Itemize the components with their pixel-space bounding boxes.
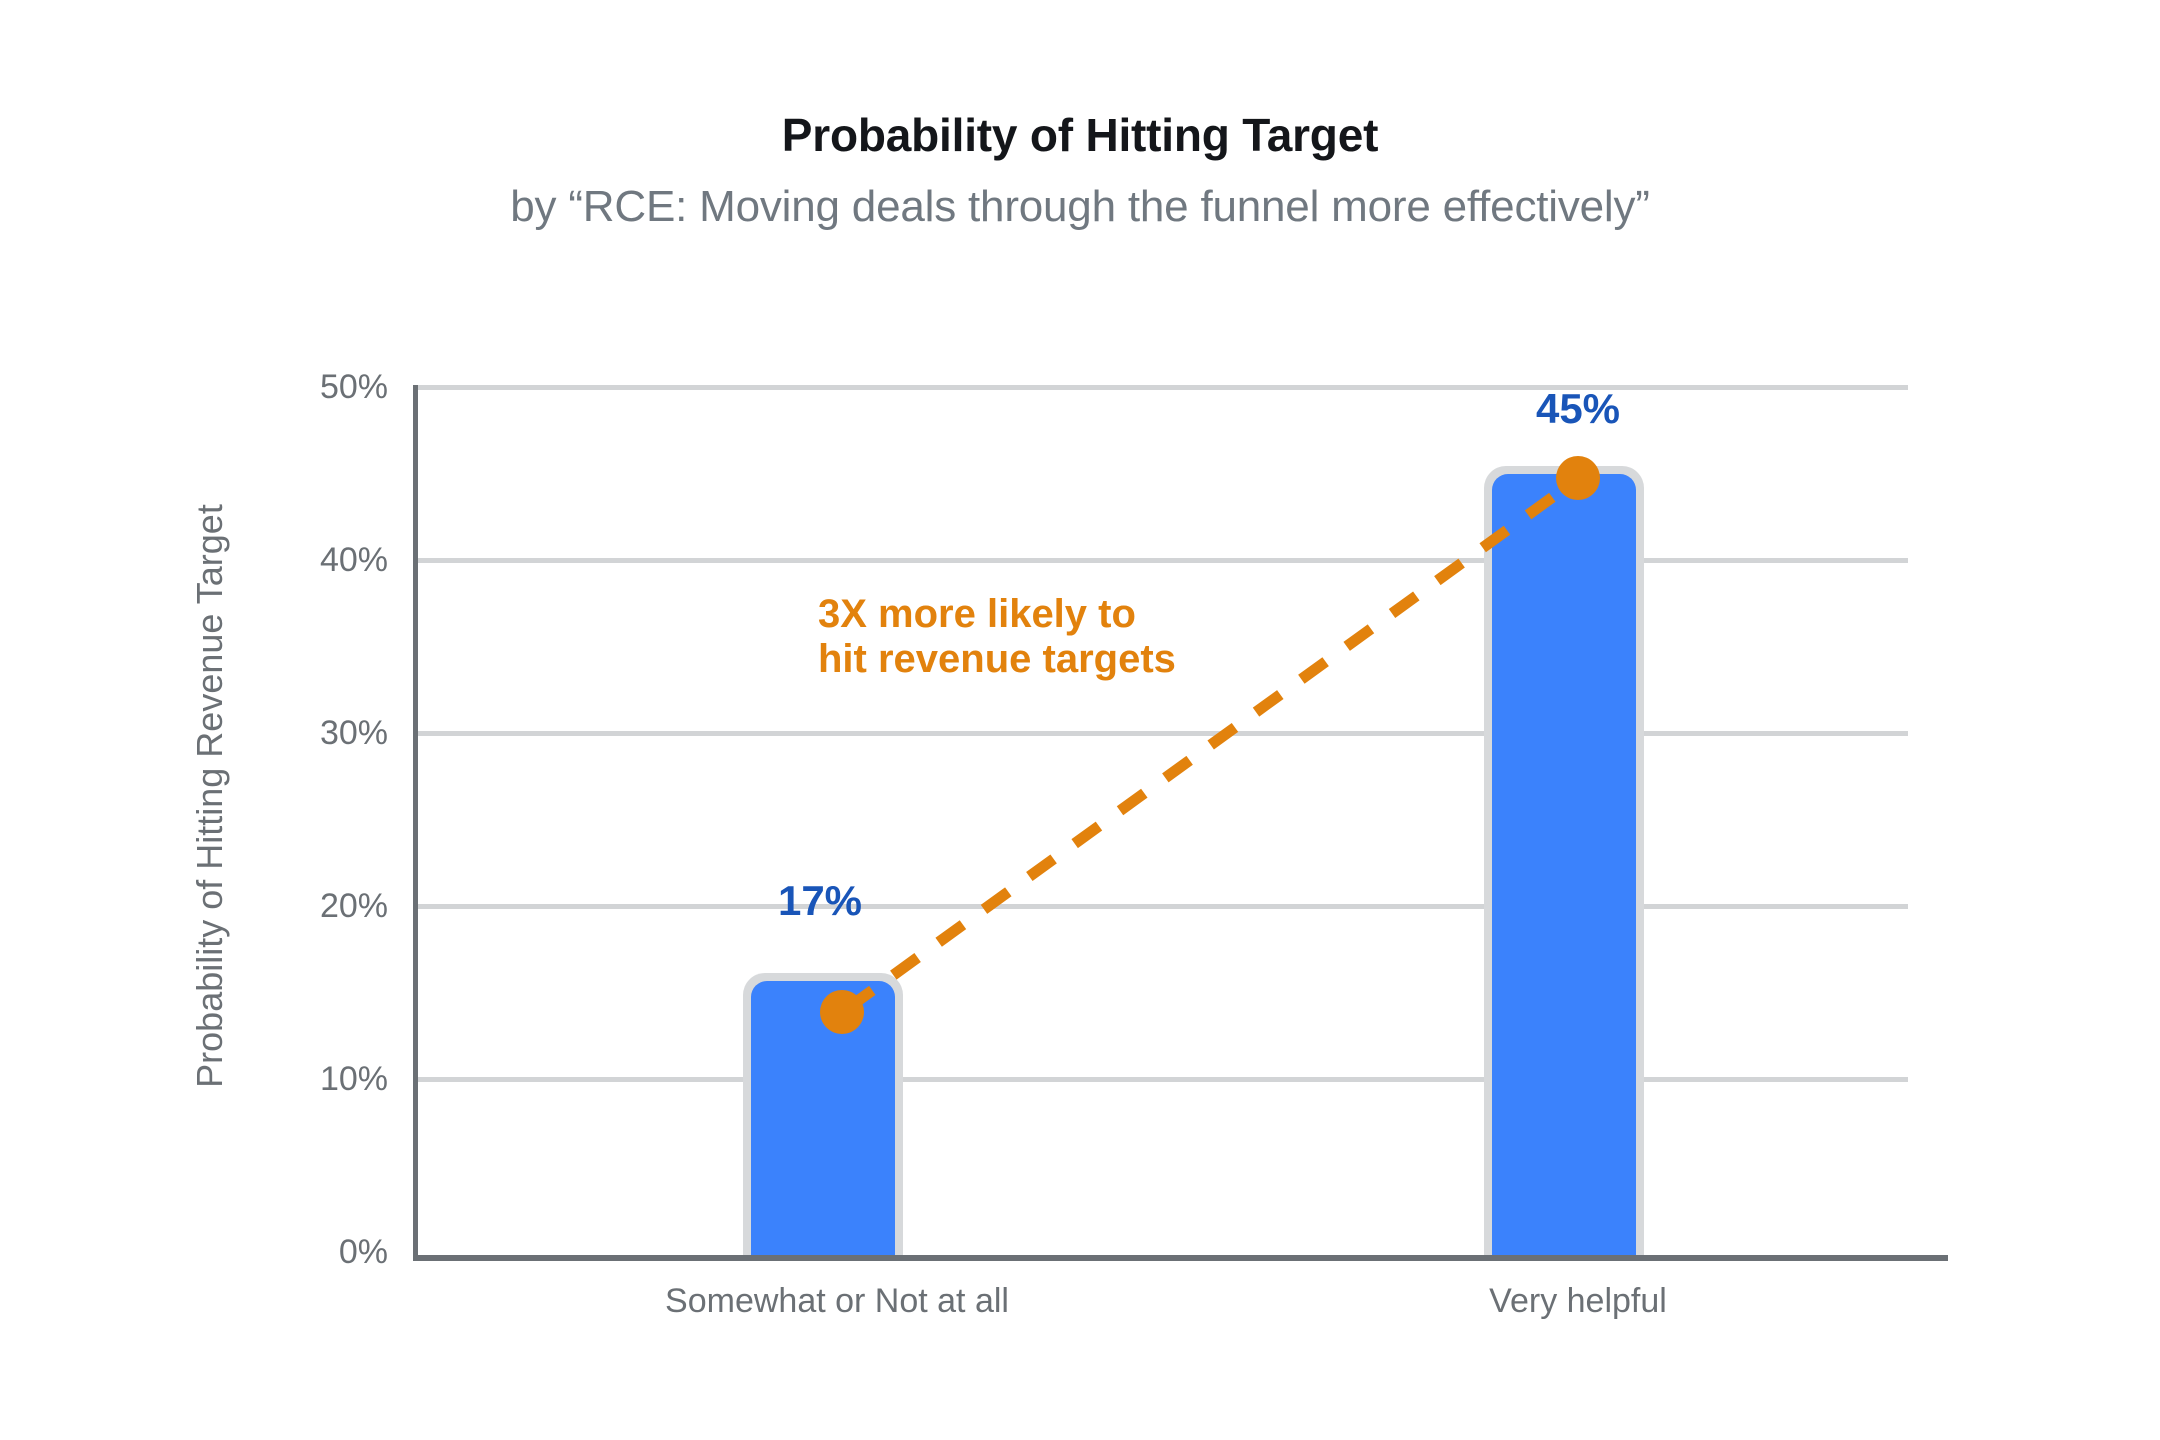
annotation-line-1: 3X more likely to xyxy=(818,592,1176,637)
gridline-10 xyxy=(418,1077,1908,1082)
x-axis-line xyxy=(413,1255,1948,1261)
annotation-line-2: hit revenue targets xyxy=(818,637,1176,682)
value-label-very-helpful: 45% xyxy=(1493,385,1663,433)
value-label-somewhat-or-not-at-all: 17% xyxy=(735,877,905,925)
chart-title: Probability of Hitting Target xyxy=(0,108,2160,162)
bar-very-helpful[interactable] xyxy=(1492,474,1636,1255)
x-tick-label-very-helpful: Very helpful xyxy=(1368,1282,1788,1321)
chart-subtitle: by “RCE: Moving deals through the funnel… xyxy=(0,182,2160,232)
plot-area xyxy=(413,385,1948,1260)
y-tick-label-30: 30% xyxy=(238,714,388,753)
annotation-3x: 3X more likely to hit revenue targets xyxy=(818,592,1176,682)
x-tick-label-somewhat-or-not-at-all: Somewhat or Not at all xyxy=(577,1282,1097,1321)
chart-canvas: Probability of Hitting Target by “RCE: M… xyxy=(0,0,2160,1440)
y-tick-label-40: 40% xyxy=(238,541,388,580)
gridline-50 xyxy=(418,385,1908,390)
y-axis-line xyxy=(413,385,418,1260)
gridline-40 xyxy=(418,558,1908,563)
bar-somewhat-or-not-at-all[interactable] xyxy=(751,981,895,1255)
y-tick-label-0: 0% xyxy=(238,1233,388,1272)
y-tick-label-10: 10% xyxy=(238,1060,388,1099)
y-tick-label-50: 50% xyxy=(238,368,388,407)
gridline-30 xyxy=(418,731,1908,736)
gridline-20 xyxy=(418,904,1908,909)
y-axis-title: Probability of Hitting Revenue Target xyxy=(189,396,231,1196)
y-tick-label-20: 20% xyxy=(238,887,388,926)
